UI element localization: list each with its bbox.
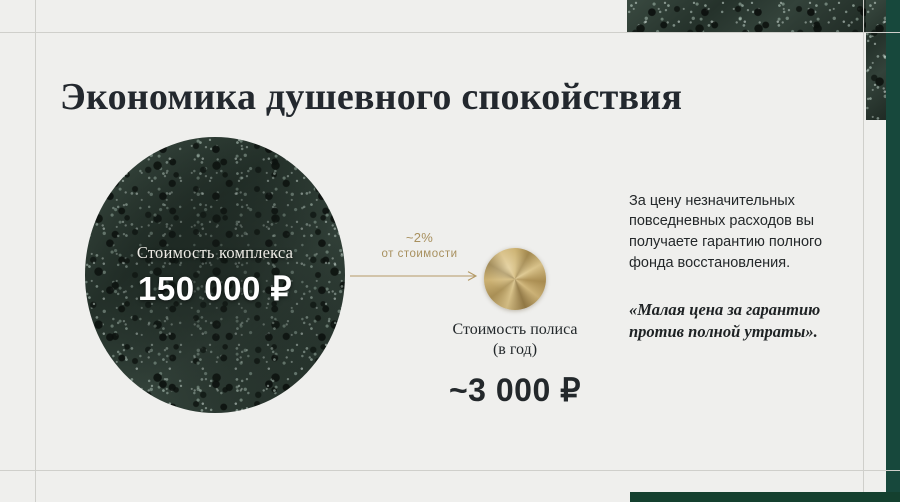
explanation-paragraph: За цену незначительных повседневных расх… — [629, 191, 844, 274]
granite-right-strip — [866, 0, 887, 120]
guide-line-top — [0, 32, 900, 33]
granite-top-block — [627, 0, 866, 32]
guide-line-right — [863, 0, 864, 502]
percent-caption: от стоимости — [352, 247, 487, 262]
policy-cost-value: ~3 000 ₽ — [410, 371, 620, 409]
percent-value: ~2% — [352, 230, 487, 246]
arrow-right-icon — [350, 271, 482, 281]
policy-cost-group: Стоимость полиса (в год) ~3 000 ₽ — [410, 320, 620, 409]
policy-cost-label-line2: (в год) — [410, 340, 620, 360]
green-bottom-band — [630, 492, 900, 502]
complex-cost-value: 150 000 ₽ — [138, 269, 292, 308]
slide-canvas: Экономика душевного спокойствия Стоимост… — [0, 0, 900, 502]
guide-line-bottom — [0, 470, 900, 471]
explanation-quote: «Малая цена за гарантию против полной ут… — [629, 299, 844, 343]
complex-cost-circle: Стоимость комплекса 150 000 ₽ — [85, 137, 345, 413]
complex-cost-label: Стоимость комплекса — [137, 243, 293, 263]
percent-arrow-group: ~2% от стоимости — [352, 230, 487, 262]
policy-cost-label-line1: Стоимость полиса — [410, 320, 620, 340]
green-right-panel — [886, 0, 900, 502]
page-title: Экономика душевного спокойствия — [60, 75, 682, 119]
guide-line-left — [35, 0, 36, 502]
explanation-block: За цену незначительных повседневных расх… — [629, 176, 844, 360]
policy-cost-circle — [484, 248, 546, 310]
